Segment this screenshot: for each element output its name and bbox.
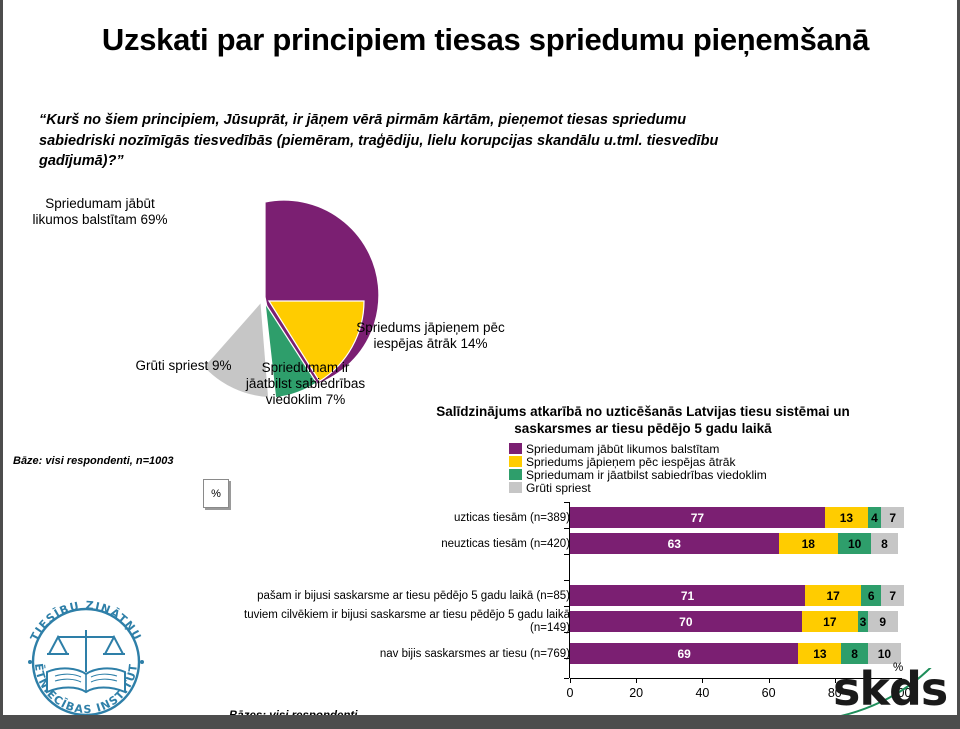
bar-segment-lawful[interactable]: 63 <box>570 533 779 554</box>
institute-ring-bottom-text: PĒTNIECĪBAS INSTITŪTS <box>11 596 140 716</box>
legend-item-lawful[interactable]: Spriedumam jābūt likumos balstītam <box>509 442 767 455</box>
bar-segment-hard-to-say[interactable]: 9 <box>868 611 898 632</box>
pie-label-lawful-text: Spriedumam jābūt likumos balstītam <box>32 196 154 227</box>
bar-segment-lawful[interactable]: 77 <box>570 507 825 528</box>
stacked-bar[interactable]: 69 13 8 10 <box>570 643 901 664</box>
x-axis-tick <box>769 678 770 683</box>
bar-segment-hard-to-say[interactable]: 8 <box>871 533 897 554</box>
x-axis-label-20: 20 <box>629 686 643 700</box>
bar-segment-hard-to-say[interactable]: 7 <box>881 585 904 606</box>
bar-chart-legend: Spriedumam jābūt likumos balstītam Sprie… <box>509 442 767 494</box>
x-axis-label-0: 0 <box>567 686 574 700</box>
bar-row-label: neuzticas tiesām (n=420) <box>441 538 570 550</box>
category-axis-tick <box>564 580 569 581</box>
bar-segment-fast[interactable]: 13 <box>798 643 841 664</box>
bar-segment-public-opinion[interactable]: 8 <box>841 643 867 664</box>
bar-segment-public-opinion[interactable]: 6 <box>861 585 881 606</box>
stacked-bar[interactable]: 77 13 4 7 <box>570 507 904 528</box>
stacked-bar[interactable]: 70 17 3 9 <box>570 611 898 632</box>
bar-segment-hard-to-say[interactable]: 7 <box>881 507 904 528</box>
table-row[interactable]: neuzticas tiesām (n=420) 63 18 10 8 <box>193 533 960 554</box>
table-row[interactable]: uzticas tiesām (n=389) 77 13 4 7 <box>193 507 960 528</box>
bar-segment-public-opinion[interactable]: 4 <box>868 507 881 528</box>
category-axis-tick <box>564 528 569 529</box>
bar-row-label: uzticas tiesām (n=389) <box>454 512 570 524</box>
question-text: “Kurš no šiem principiem, Jūsuprāt, ir j… <box>39 110 739 172</box>
bar-segment-fast[interactable]: 18 <box>779 533 839 554</box>
stacked-bar[interactable]: 71 17 6 7 <box>570 585 904 606</box>
legend-swatch-purple-icon <box>509 443 522 454</box>
table-row[interactable]: pašam ir bijusi saskarsme ar tiesu pēdēj… <box>193 585 960 606</box>
legend-swatch-gray-icon <box>509 482 522 493</box>
bar-segment-fast[interactable]: 13 <box>825 507 868 528</box>
legend-item-hard-to-say[interactable]: Grūti spriest <box>509 481 767 494</box>
bar-segment-hard-to-say[interactable]: 10 <box>868 643 901 664</box>
bar-segment-lawful[interactable]: 70 <box>570 611 802 632</box>
pie-label-hard-to-say: Grūti spriest 9% <box>121 358 246 374</box>
skds-logo-text: skds <box>833 662 947 716</box>
x-axis-tick <box>570 678 571 683</box>
table-row[interactable]: nav bijis saskarsmes ar tiesu (n=769) 69… <box>193 643 960 664</box>
bar-row-label: nav bijis saskarsmes ar tiesu (n=769) <box>380 648 570 660</box>
table-row[interactable]: tuviem cilvēkiem ir bijusi saskarsme ar … <box>193 611 960 632</box>
bar-chart-title: Salīdzinājums atkarībā no uzticēšanās La… <box>408 404 878 438</box>
pie-base-note: Bāze: visi respondenti, n=1003 <box>13 455 173 467</box>
slide-canvas: Uzskati par principiem tiesas spriedumu … <box>0 0 960 729</box>
category-axis-tick <box>564 554 569 555</box>
bar-segment-fast[interactable]: 17 <box>805 585 861 606</box>
institute-logo: TIESĪBU ZINĀTŅU PĒTNIECĪBAS INSTITŪTS <box>11 596 161 721</box>
x-axis-label-40: 40 <box>695 686 709 700</box>
legend-label-lawful: Spriedumam jābūt likumos balstītam <box>526 442 719 456</box>
bar-segment-public-opinion[interactable]: 3 <box>858 611 868 632</box>
page-title: Uzskati par principiem tiesas spriedumu … <box>98 22 873 57</box>
category-axis-tick <box>564 678 569 679</box>
institute-logo-svg: TIESĪBU ZINĀTŅU PĒTNIECĪBAS INSTITŪTS <box>11 596 161 721</box>
legend-item-fast[interactable]: Spriedums jāpieņem pēc iespējas ātrāk <box>509 455 767 468</box>
bar-segment-lawful[interactable]: 71 <box>570 585 805 606</box>
scales-icon <box>47 630 125 672</box>
bar-chart-plot: uzticas tiesām (n=389) 77 13 4 7 neuztic… <box>193 502 960 672</box>
pie-label-hard-to-say-text: Grūti spriest <box>135 358 208 373</box>
legend-swatch-green-icon <box>509 469 522 480</box>
legend-label-public-opinion: Spriedumam ir jāatbilst sabiedrības vied… <box>526 468 767 482</box>
x-axis-tick <box>702 678 703 683</box>
category-axis-tick <box>564 502 569 503</box>
pie-label-public-opinion-text: Spriedumam ir jāatbilst sabiedrības vied… <box>246 360 365 407</box>
pie-label-lawful-value: 69% <box>141 212 168 227</box>
bar-row-label: pašam ir bijusi saskarsme ar tiesu pēdēj… <box>257 590 570 602</box>
x-axis-label-60: 60 <box>762 686 776 700</box>
svg-text:PĒTNIECĪBAS INSTITŪTS: PĒTNIECĪBAS INSTITŪTS <box>11 596 140 716</box>
slide-footer-bar <box>3 715 960 729</box>
legend-label-fast: Spriedums jāpieņem pēc iespējas ātrāk <box>526 455 735 469</box>
stacked-bar[interactable]: 63 18 10 8 <box>570 533 898 554</box>
pie-label-hard-to-say-value: 9% <box>212 358 232 373</box>
pie-label-public-opinion: Spriedumam ir jāatbilst sabiedrības vied… <box>238 360 373 409</box>
bar-segment-fast[interactable]: 17 <box>802 611 858 632</box>
pie-label-fast-value: 14% <box>461 336 488 351</box>
bar-segment-lawful[interactable]: 69 <box>570 643 798 664</box>
pie-label-fast: Spriedums jāpieņem pēc iespējas ātrāk 14… <box>353 320 508 352</box>
x-axis-tick <box>636 678 637 683</box>
bar-chart: Salīdzinājums atkarībā no uzticēšanās La… <box>193 404 960 704</box>
pie-label-lawful: Spriedumam jābūt likumos balstītam 69% <box>25 196 175 228</box>
legend-swatch-yellow-icon <box>509 456 522 467</box>
legend-item-public-opinion[interactable]: Spriedumam ir jāatbilst sabiedrības vied… <box>509 468 767 481</box>
category-axis-tick <box>564 606 569 607</box>
bar-row-label: tuviem cilvēkiem ir bijusi saskarsme ar … <box>225 608 570 634</box>
legend-label-hard-to-say: Grūti spriest <box>526 481 591 495</box>
bar-segment-public-opinion[interactable]: 10 <box>838 533 871 554</box>
